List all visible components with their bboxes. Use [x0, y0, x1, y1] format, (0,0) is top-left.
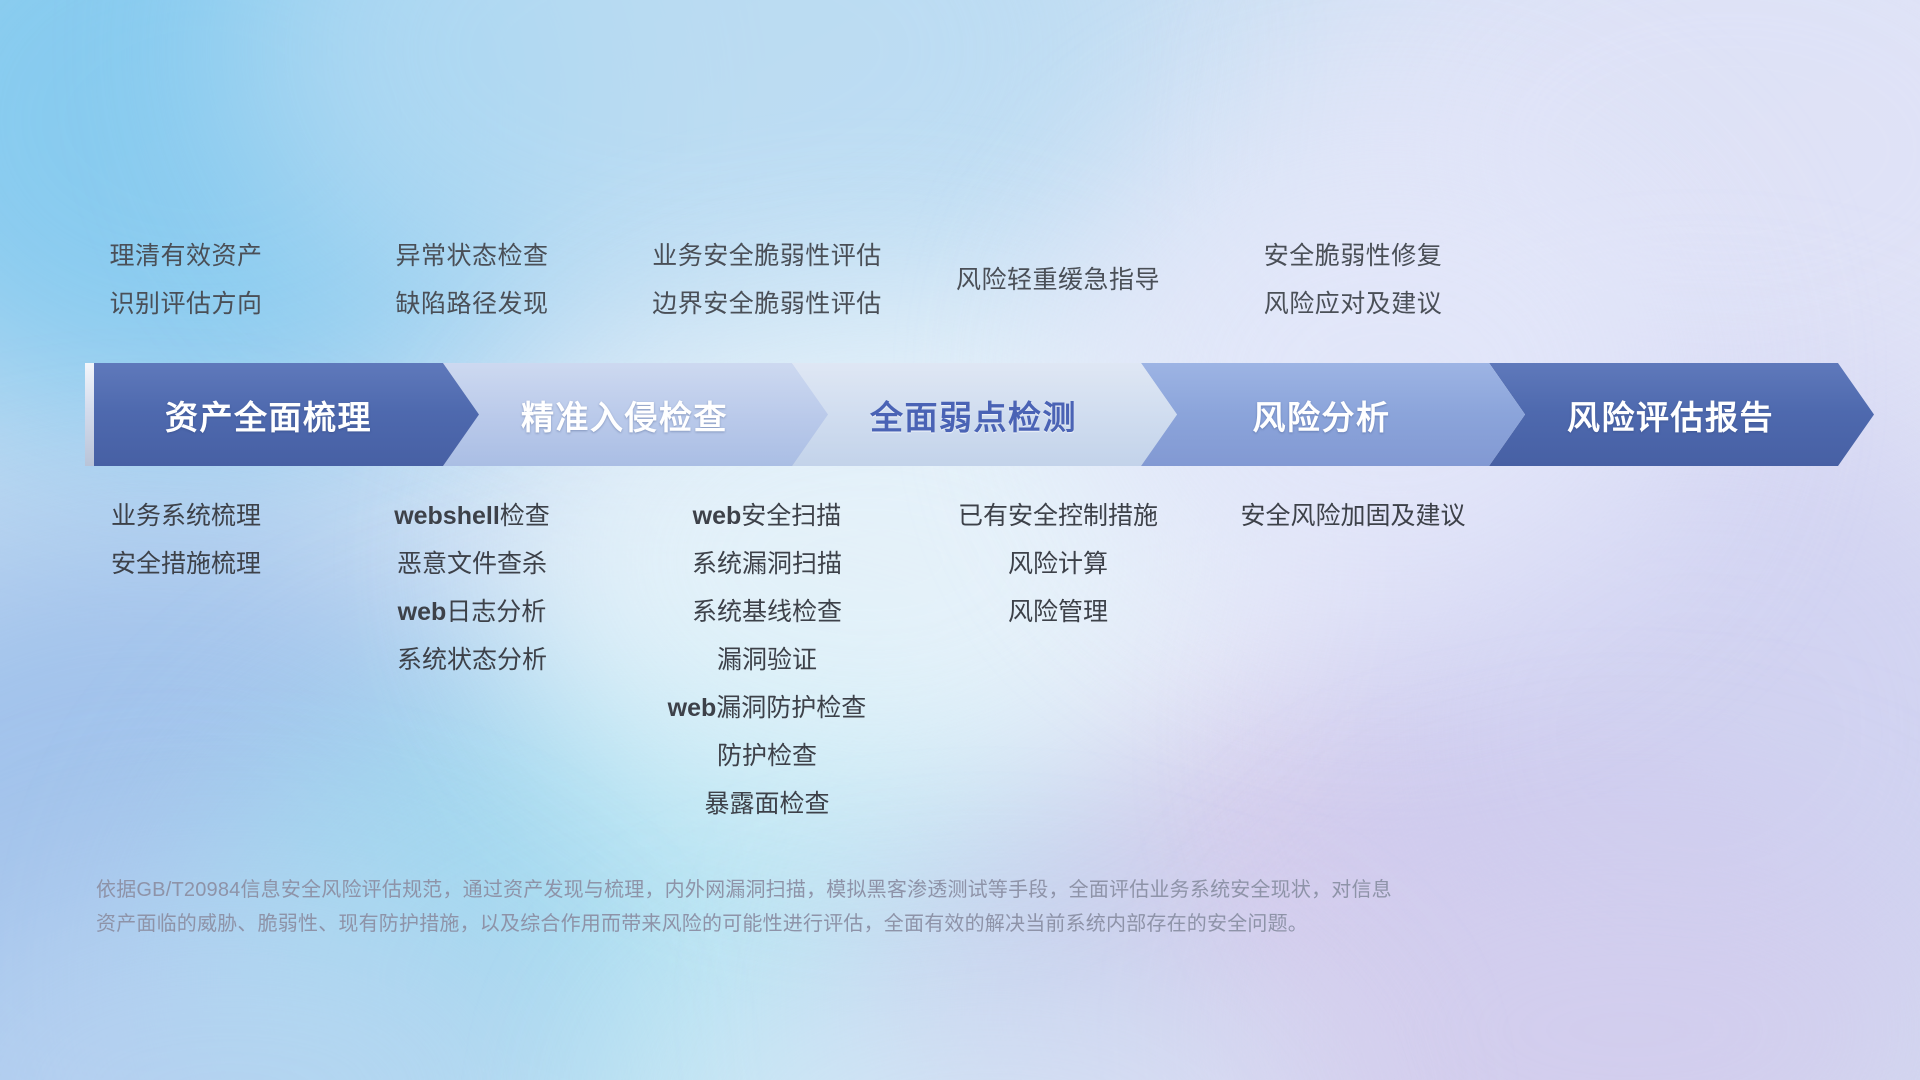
bottom-label-keyword: web — [398, 598, 447, 626]
bottom-label-keyword: web — [668, 694, 717, 722]
bottom-label-item: 系统状态分析 — [397, 636, 547, 684]
bottom-label-item: 恶意文件查杀 — [397, 540, 547, 588]
top-label-item: 风险轻重缓急指导 — [956, 256, 1160, 304]
top-label-item: 异常状态检查 — [395, 232, 548, 280]
top-label-group-risk-report: 安全脆弱性修复风险应对及建议 — [1203, 232, 1503, 328]
bottom-label-item: 业务系统梳理 — [111, 492, 261, 540]
bottom-label-item: web漏洞防护检查 — [668, 684, 867, 732]
top-label-group-intrusion-check: 异常状态检查缺陷路径发现 — [322, 232, 622, 328]
top-label-group-weakness-detection: 业务安全脆弱性评估边界安全脆弱性评估 — [587, 232, 947, 328]
bottom-label-item: web安全扫描 — [693, 492, 842, 540]
bottom-label-item: 风险计算 — [1008, 540, 1108, 588]
stage-arrow-asset-inventory[interactable]: 资产全面梳理 — [94, 363, 479, 466]
stage-title-weakness-detection: 全面弱点检测 — [870, 391, 1077, 439]
bottom-label-item: 防护检查 — [717, 732, 817, 780]
stage-title-intrusion-check: 精准入侵检查 — [521, 391, 728, 439]
bottom-label-group-intrusion-check: webshell检查恶意文件查杀web日志分析系统状态分析 — [322, 492, 622, 684]
bottom-label-group-weakness-detection: web安全扫描系统漏洞扫描系统基线检查漏洞验证web漏洞防护检查防护检查暴露面检… — [587, 492, 947, 828]
bottom-label-keyword: web — [693, 502, 742, 530]
top-label-item: 识别评估方向 — [109, 280, 262, 328]
stage-arrow-band: 资产全面梳理精准入侵检查全面弱点检测风险分析风险评估报告 — [94, 363, 1838, 466]
footer-line-1: 依据GB/T20984信息安全风险评估规范，通过资产发现与梳理，内外网漏洞扫描，… — [96, 873, 1616, 907]
top-label-group-asset-inventory: 理清有效资产识别评估方向 — [36, 232, 336, 328]
top-label-item: 缺陷路径发现 — [395, 280, 548, 328]
footer-line-2: 资产面临的威胁、脆弱性、现有防护措施，以及综合作用而带来风险的可能性进行评估，全… — [96, 907, 1616, 941]
footer-description: 依据GB/T20984信息安全风险评估规范，通过资产发现与梳理，内外网漏洞扫描，… — [96, 873, 1616, 941]
bottom-label-item: 风险管理 — [1008, 588, 1108, 636]
stage-title-risk-analysis: 风险分析 — [1253, 391, 1391, 439]
bottom-label-item: 安全措施梳理 — [111, 540, 261, 588]
stage-title-risk-report: 风险评估报告 — [1567, 391, 1774, 439]
bottom-label-group-risk-analysis: 已有安全控制措施风险计算风险管理 — [908, 492, 1208, 636]
bottom-label-item: 系统漏洞扫描 — [692, 540, 842, 588]
stage-arrow-risk-analysis[interactable]: 风险分析 — [1140, 363, 1525, 466]
bottom-label-item: 已有安全控制措施 — [958, 492, 1158, 540]
top-label-item: 边界安全脆弱性评估 — [652, 280, 882, 328]
bottom-label-keyword: webshell — [394, 502, 500, 530]
top-label-group-risk-analysis: 风险轻重缓急指导 — [908, 256, 1208, 304]
stage-arrow-weakness-detection[interactable]: 全面弱点检测 — [792, 363, 1177, 466]
top-label-item: 安全脆弱性修复 — [1264, 232, 1443, 280]
bottom-label-item: 暴露面检查 — [704, 780, 829, 828]
stage-arrow-intrusion-check[interactable]: 精准入侵检查 — [443, 363, 828, 466]
stage-title-asset-inventory: 资产全面梳理 — [165, 391, 372, 439]
bottom-label-group-asset-inventory: 业务系统梳理安全措施梳理 — [36, 492, 336, 588]
bottom-label-item: 安全风险加固及建议 — [1240, 492, 1465, 540]
stage-arrow-risk-report[interactable]: 风险评估报告 — [1489, 363, 1874, 466]
bottom-label-group-risk-report: 安全风险加固及建议 — [1203, 492, 1503, 540]
top-label-item: 风险应对及建议 — [1264, 280, 1443, 328]
bottom-label-item: webshell检查 — [394, 492, 550, 540]
top-label-item: 业务安全脆弱性评估 — [652, 232, 882, 280]
bottom-label-item: 系统基线检查 — [692, 588, 842, 636]
bottom-label-item: 漏洞验证 — [717, 636, 817, 684]
bottom-label-item: web日志分析 — [398, 588, 547, 636]
top-label-item: 理清有效资产 — [109, 232, 262, 280]
process-diagram: 理清有效资产识别评估方向异常状态检查缺陷路径发现业务安全脆弱性评估边界安全脆弱性… — [0, 0, 1920, 1080]
